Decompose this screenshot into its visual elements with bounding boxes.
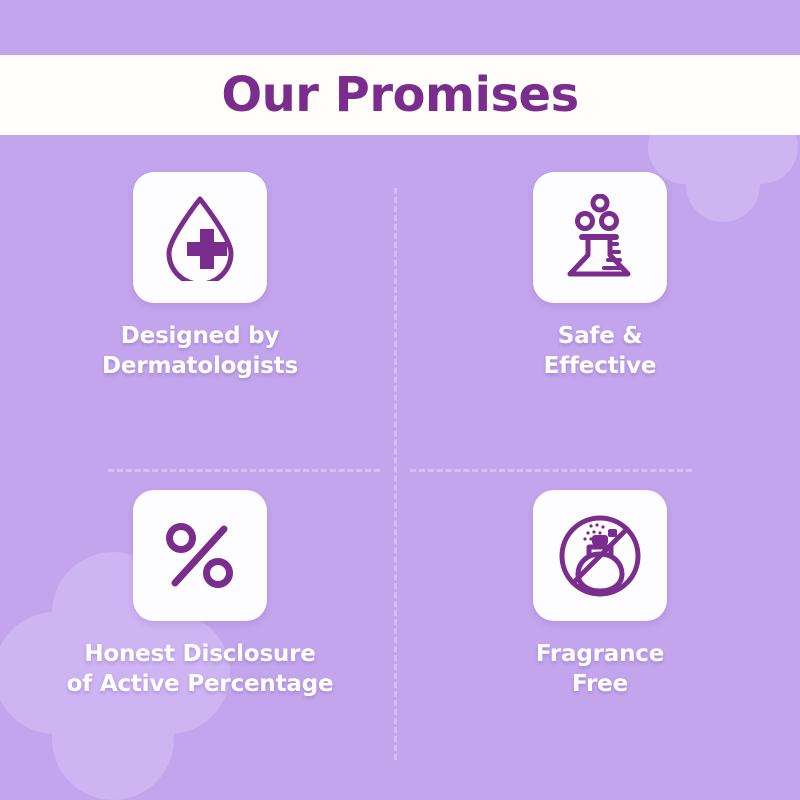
percent-icon <box>161 521 239 591</box>
promise-grid: Designed by Dermatologists Safe & Ef <box>0 150 800 770</box>
promise-item-designed-by-dermatologists: Designed by Dermatologists <box>0 150 400 460</box>
promise-item-fragrance-free: Fragrance Free <box>400 460 800 770</box>
promises-infographic: Our Promises Designed by Dermatologists <box>0 0 800 800</box>
icon-card-droplet <box>133 172 267 303</box>
promise-item-safe-effective: Safe & Effective <box>400 150 800 460</box>
droplet-plus-icon <box>159 195 241 281</box>
promise-label: Safe & Effective <box>544 321 657 382</box>
promise-label: Fragrance Free <box>536 639 664 700</box>
no-fragrance-spray-bottle-icon <box>556 512 644 600</box>
promise-label: Designed by Dermatologists <box>102 321 298 382</box>
icon-card-flask <box>533 172 667 303</box>
page-title: Our Promises <box>221 71 578 119</box>
icon-card-no-fragrance <box>533 490 667 621</box>
header-band: Our Promises <box>0 55 800 135</box>
flask-bubbles-icon <box>558 194 642 282</box>
promise-item-honest-disclosure: Honest Disclosure of Active Percentage <box>0 460 400 770</box>
icon-card-percent <box>133 490 267 621</box>
promise-label: Honest Disclosure of Active Percentage <box>67 639 334 700</box>
